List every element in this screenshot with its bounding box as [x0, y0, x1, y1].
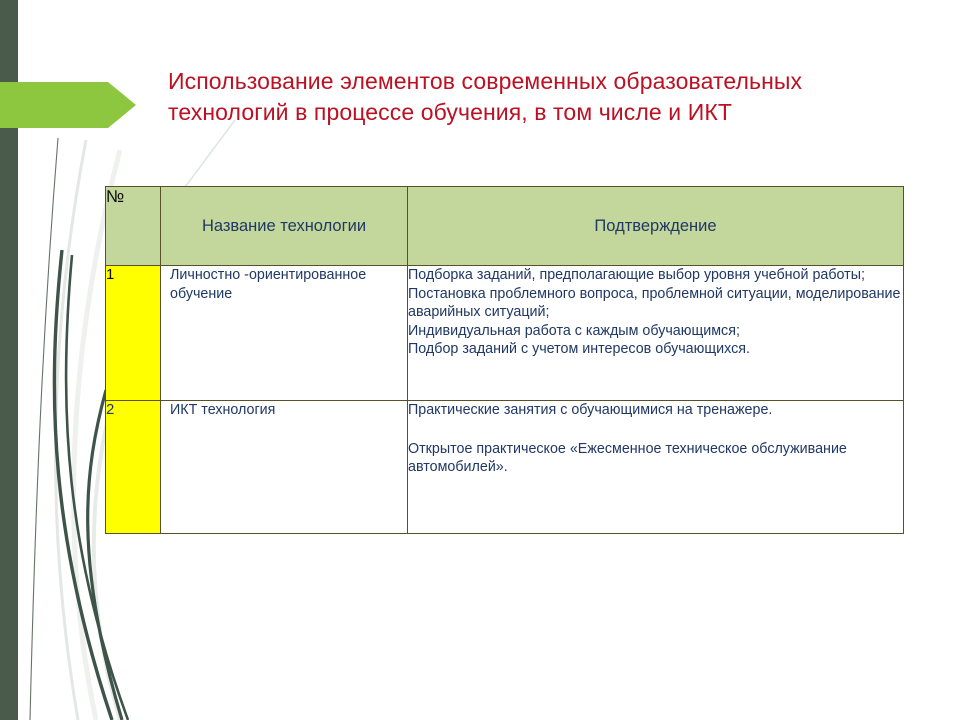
confirmation-line: Подборка заданий, предполагающие выбор у…	[408, 266, 903, 285]
technology-table-wrapper: № Название технологии Подтверждение 1 Ли…	[105, 186, 903, 534]
confirmation-cell: Практические занятия с обучающимися на т…	[408, 401, 904, 534]
column-header-confirmation: Подтверждение	[408, 187, 904, 266]
column-header-number: №	[106, 187, 161, 266]
confirmation-cell: Подборка заданий, предполагающие выбор у…	[408, 266, 904, 401]
page-title: Использование элементов современных обра…	[168, 66, 868, 128]
technology-name-cell: ИКТ технология	[161, 401, 408, 534]
row-number-cell: 2	[106, 401, 161, 534]
confirmation-line: Открытое практическое «Ежесменное технич…	[408, 440, 903, 477]
green-arrow-banner	[0, 80, 136, 130]
table-row: 2 ИКТ технология Практические занятия с …	[106, 401, 904, 534]
technology-name-cell: Личностно -ориентированное обучение	[161, 266, 408, 401]
table-row: 1 Личностно -ориентированное обучение По…	[106, 266, 904, 401]
confirmation-line: Индивидуальная работа с каждым обучающим…	[408, 322, 903, 341]
row-number-cell: 1	[106, 266, 161, 401]
confirmation-line: Подбор заданий с учетом интересов обучаю…	[408, 340, 903, 359]
technology-table: № Название технологии Подтверждение 1 Ли…	[105, 186, 904, 534]
column-header-technology: Название технологии	[161, 187, 408, 266]
slide-canvas: Использование элементов современных обра…	[0, 0, 960, 720]
confirmation-line: Постановка проблемного вопроса, проблемн…	[408, 285, 903, 322]
table-header-row: № Название технологии Подтверждение	[106, 187, 904, 266]
confirmation-line: Практические занятия с обучающимися на т…	[408, 401, 903, 420]
